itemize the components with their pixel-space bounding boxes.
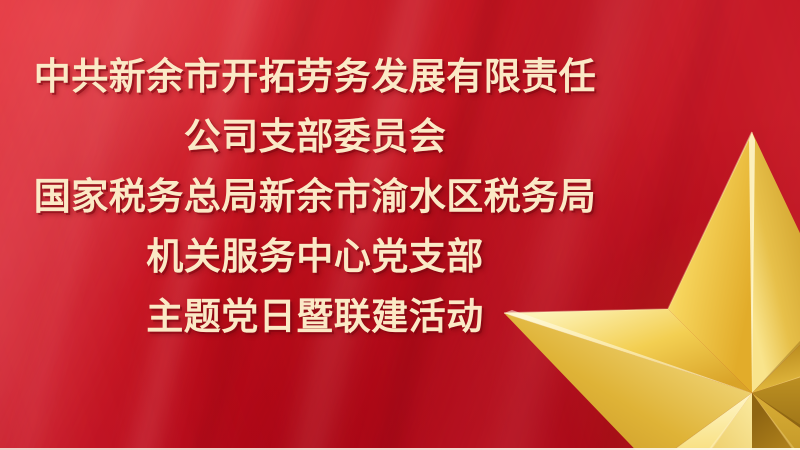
banner-canvas: 中共新余市开拓劳务发展有限责任 公司支部委员会 国家税务总局新余市渝水区税务局 … [0, 0, 800, 450]
title-line-2: 公司支部委员会 [0, 107, 630, 167]
title-line-4: 机关服务中心党支部 [0, 227, 630, 287]
title-line-5: 主题党日暨联建活动 [0, 287, 630, 347]
banner-title-block: 中共新余市开拓劳务发展有限责任 公司支部委员会 国家税务总局新余市渝水区税务局 … [0, 0, 630, 347]
title-line-1: 中共新余市开拓劳务发展有限责任 [0, 47, 630, 107]
title-line-3: 国家税务总局新余市渝水区税务局 [0, 167, 630, 227]
